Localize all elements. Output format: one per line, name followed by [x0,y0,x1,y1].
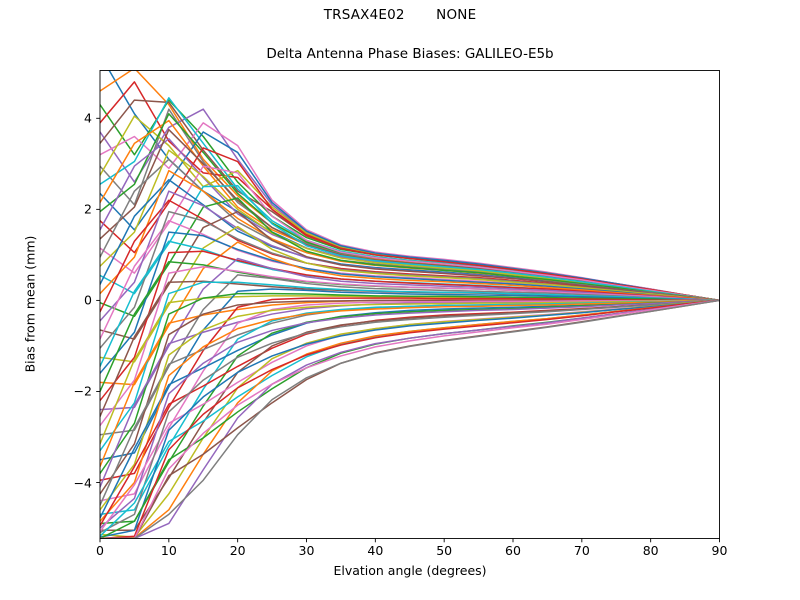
series-line [100,300,720,525]
y-tick-label: −2 [60,384,92,399]
series-group [100,55,720,539]
series-line [100,300,720,530]
y-tick-label: 2 [60,202,92,217]
x-tick-label: 20 [230,543,246,558]
y-axis-label-text: Bias from mean (mm) [23,236,38,373]
series-line [100,300,720,521]
y-tick-label: −4 [60,475,92,490]
x-tick-label: 60 [505,543,521,558]
x-tick-label: 70 [574,543,590,558]
chart-plot-area [0,0,800,600]
x-tick-label: 30 [299,543,315,558]
x-tick-label: 10 [161,543,177,558]
x-tick-label: 80 [643,543,659,558]
x-tick-label: 50 [436,543,452,558]
y-tick-label: 4 [60,111,92,126]
series-line [100,114,720,301]
matplotlib-figure: TRSAX4E02 NONE Delta Antenna Phase Biase… [0,0,800,600]
series-line [100,300,720,487]
series-line [100,300,720,493]
x-tick-label: 90 [712,543,728,558]
x-tick-label: 0 [96,543,104,558]
series-line [100,300,720,528]
x-tick-label: 40 [367,543,383,558]
x-axis-label: Elvation angle (degrees) [100,563,720,578]
y-tick-label: 0 [60,293,92,308]
